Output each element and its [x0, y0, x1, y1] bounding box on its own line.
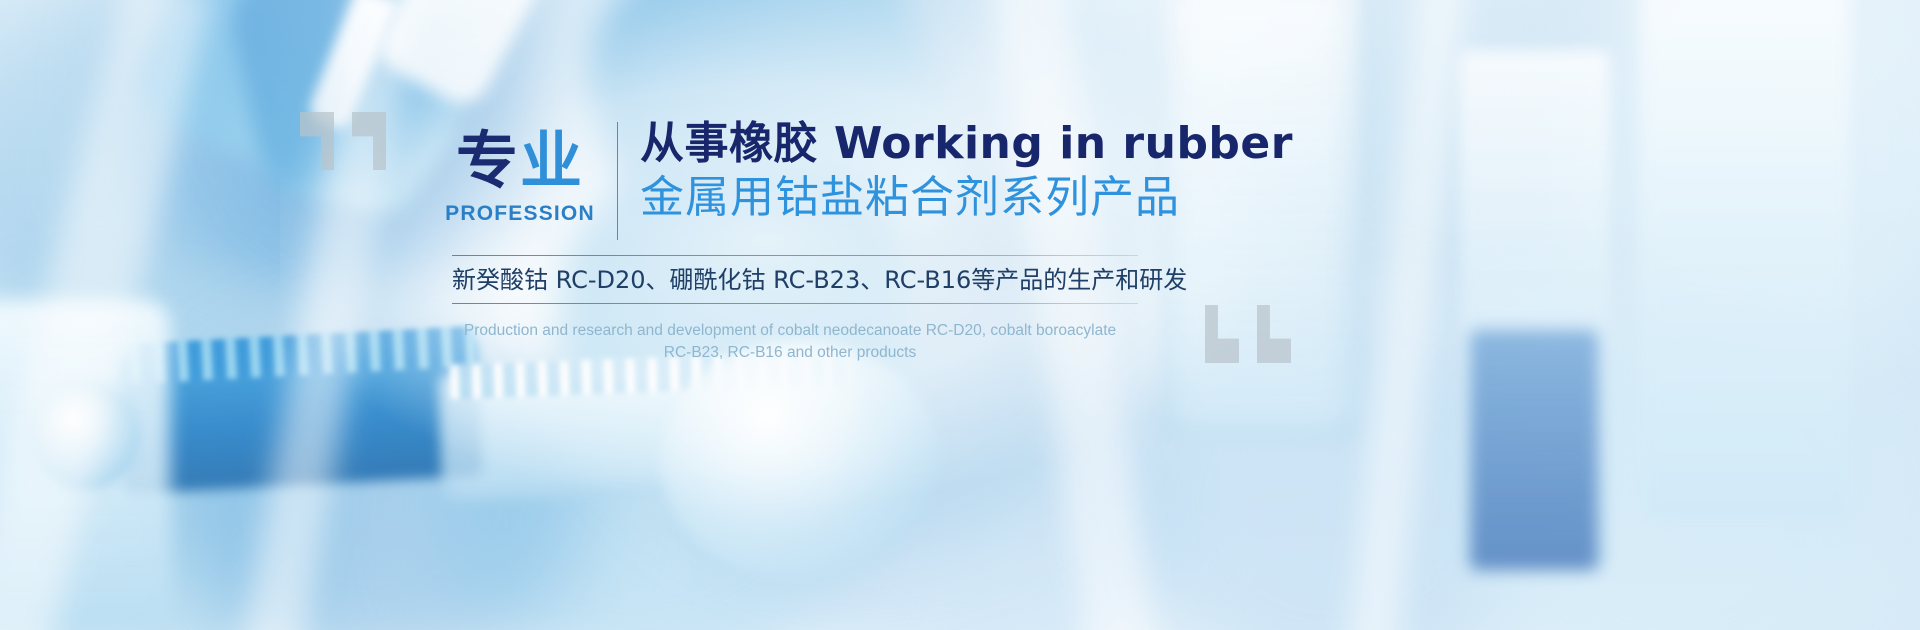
banner-content: 专业 PROFESSION 从事橡胶 Working in rubber 金属用… [0, 0, 1920, 630]
hero-banner: 专业 PROFESSION 从事橡胶 Working in rubber 金属用… [0, 0, 1920, 630]
profession-logo: 专业 PROFESSION [445, 118, 595, 226]
description-line-2: RC-B23, RC-B16 and other products [440, 342, 1140, 364]
divider-rule-bottom [452, 303, 1138, 304]
logo-subtext: PROFESSION [445, 202, 595, 226]
hero-text-block: 专业 PROFESSION 从事橡胶 Working in rubber 金属用… [445, 118, 1165, 240]
headline-primary: 从事橡胶 Working in rubber [640, 118, 1293, 170]
logo-characters: 专业 [445, 124, 595, 198]
vertical-divider [617, 122, 618, 240]
divider-rule-top [452, 255, 1138, 256]
logo-character-2: 业 [520, 124, 584, 197]
description-text: Production and research and development … [440, 320, 1140, 364]
subtitle-text: 新癸酸钴 RC-D20、硼酰化钴 RC-B23、RC-B16等产品的生产和研发 [452, 262, 1152, 298]
logo-character-1: 专 [456, 124, 520, 197]
description-line-1: Production and research and development … [440, 320, 1140, 342]
headline-group: 从事橡胶 Working in rubber 金属用钴盐粘合剂系列产品 [640, 118, 1293, 226]
headline-secondary: 金属用钴盐粘合剂系列产品 [640, 170, 1293, 226]
